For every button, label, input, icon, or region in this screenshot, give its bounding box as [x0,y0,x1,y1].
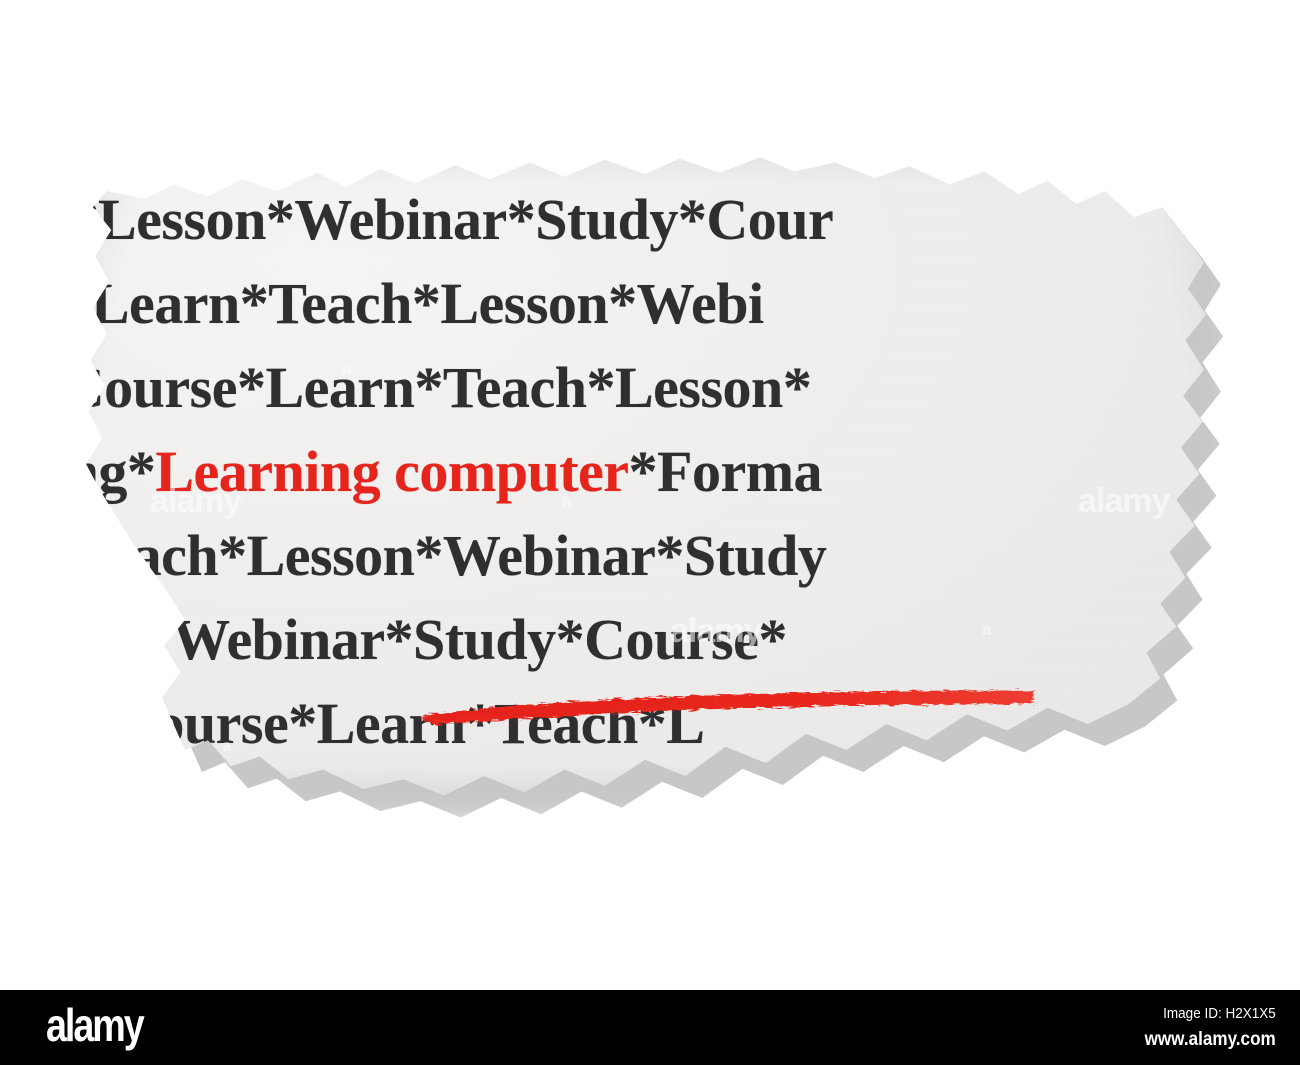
footer-metadata: Image ID: H2X1X5 www.alamy.com [1130,1004,1276,1053]
torn-paper-scrap: Webinar*Study*Cou ach*Lesson*Webinar*Stu… [70,152,1220,802]
stock-photo-footer-bar [0,990,1300,1065]
alamy-logo: alamy [46,1002,143,1048]
alamy-url-label[interactable]: www.alamy.com [1145,1027,1276,1053]
image-canvas: Webinar*Study*Cou ach*Lesson*Webinar*Stu… [0,0,1300,990]
image-id-label: Image ID: H2X1X5 [1145,1004,1276,1023]
torn-edge-shading [70,152,1220,802]
